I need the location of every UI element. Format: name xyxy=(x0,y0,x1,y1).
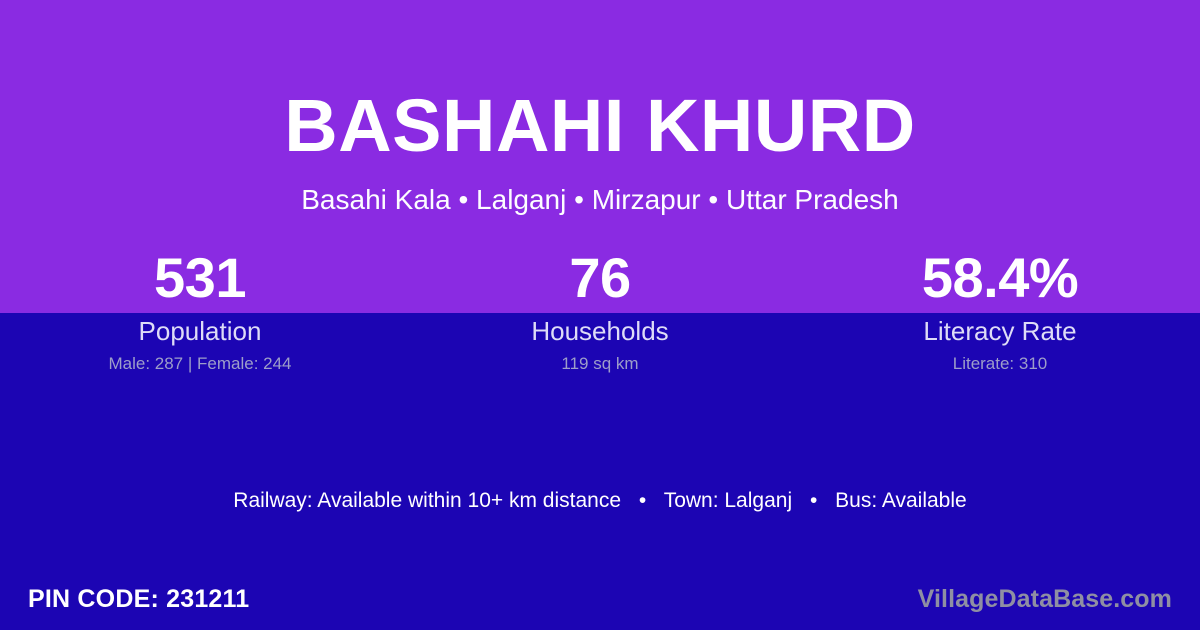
card-footer: PIN CODE: 231211 VillageDataBase.com xyxy=(0,568,1200,630)
amenity-railway: Railway: Available within 10+ km distanc… xyxy=(233,489,621,512)
pin-code: PIN CODE: 231211 xyxy=(28,568,249,630)
amenity-town: Town: Lalganj xyxy=(664,489,792,512)
stat-value: 531 xyxy=(0,243,400,313)
stats-row: 531 Population Male: 287 | Female: 244 7… xyxy=(0,243,1200,375)
stat-households: 76 Households 119 sq km xyxy=(400,243,800,375)
stat-label: Population xyxy=(0,315,400,347)
stat-label: Literacy Rate xyxy=(800,315,1200,347)
amenities-line: Railway: Available within 10+ km distanc… xyxy=(0,487,1200,515)
stat-subtext: 119 sq km xyxy=(400,353,800,375)
page-title: BASHAHI KHURD xyxy=(0,82,1200,170)
village-info-card: BASHAHI KHURD Basahi Kala • Lalganj • Mi… xyxy=(0,0,1200,630)
stat-literacy-rate: 58.4% Literacy Rate Literate: 310 xyxy=(800,243,1200,375)
stat-label: Households xyxy=(400,315,800,347)
amenity-bus: Bus: Available xyxy=(835,489,967,512)
stat-value: 58.4% xyxy=(800,243,1200,313)
stat-subtext: Male: 287 | Female: 244 xyxy=(0,353,400,375)
stat-population: 531 Population Male: 287 | Female: 244 xyxy=(0,243,400,375)
amenity-separator-icon: • xyxy=(627,487,658,515)
amenity-separator-icon: • xyxy=(798,487,829,515)
breadcrumb: Basahi Kala • Lalganj • Mirzapur • Uttar… xyxy=(0,182,1200,218)
stat-subtext: Literate: 310 xyxy=(800,353,1200,375)
stat-value: 76 xyxy=(400,243,800,313)
brand-watermark: VillageDataBase.com xyxy=(918,568,1172,630)
